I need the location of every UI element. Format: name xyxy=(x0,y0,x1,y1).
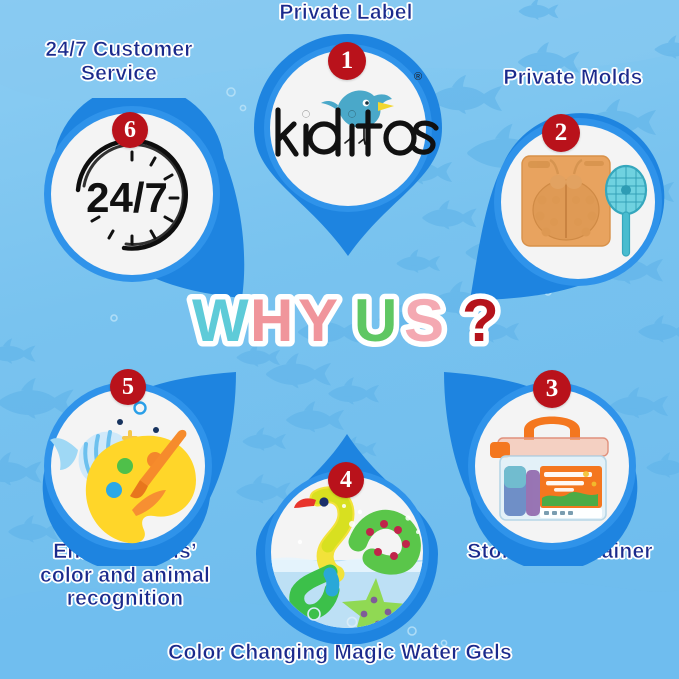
headline-letter-w: W xyxy=(192,287,249,354)
sparkle-dot-icon xyxy=(117,419,123,425)
feature-number-5: 5 xyxy=(122,374,134,401)
feature-badge-4: 4 xyxy=(328,462,364,498)
clock-24-7-label: 24/7 xyxy=(86,174,168,221)
headline-letter-?: ? xyxy=(462,287,499,354)
feature-badge-1: 1 xyxy=(328,42,366,80)
feature-number-1: 1 xyxy=(341,47,354,75)
feature-number-6: 6 xyxy=(124,117,136,144)
feature-number-4: 4 xyxy=(340,467,352,494)
feature-badge-3: 3 xyxy=(533,370,571,408)
svg-text:®: ® xyxy=(414,71,422,83)
feature-badge-6: 6 xyxy=(112,112,148,148)
feature-badge-2: 2 xyxy=(542,114,580,152)
headline-letter-h: H xyxy=(250,287,293,354)
headline-letter-y: Y xyxy=(298,287,338,354)
ladybug-mold-icon xyxy=(522,156,610,246)
sparkle-dot-icon xyxy=(153,427,159,433)
headline-why-us: WHYUS? xyxy=(186,285,516,357)
headline-letter-s: S xyxy=(404,287,444,354)
feature-number-3: 3 xyxy=(546,375,559,403)
feature-number-2: 2 xyxy=(555,119,568,147)
feature-badge-5: 5 xyxy=(110,369,146,405)
headline-letter-u: U xyxy=(354,287,397,354)
infographic-canvas: ® 1 Private Label xyxy=(0,0,679,679)
